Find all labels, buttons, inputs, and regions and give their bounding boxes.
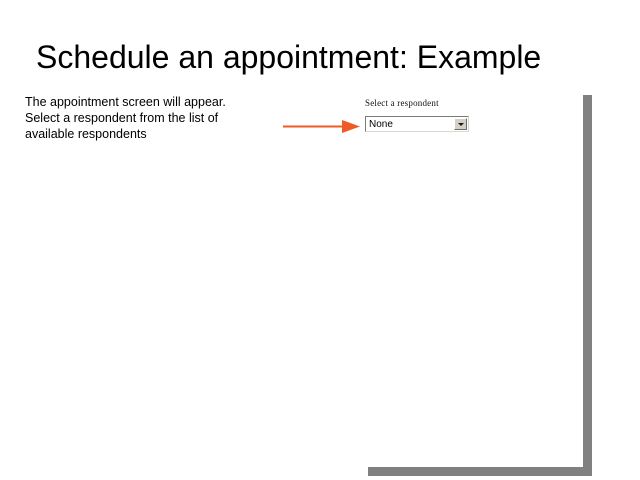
- respondent-select-value: None: [369, 118, 393, 131]
- callout-arrow-icon: [282, 118, 368, 136]
- page-title: Schedule an appointment: Example: [36, 38, 616, 76]
- slide-canvas: Schedule an appointment: Example The app…: [0, 0, 640, 480]
- respondent-field-label: Select a respondent: [365, 98, 471, 109]
- respondent-select[interactable]: None: [365, 116, 469, 132]
- respondent-select-button[interactable]: [454, 118, 467, 130]
- slide-body-text: The appointment screen will appear. Sele…: [25, 94, 257, 142]
- chevron-down-icon: [458, 123, 464, 126]
- screenshot-shadow-right: [583, 95, 592, 476]
- respondent-field-group: Select a respondent None: [365, 98, 471, 132]
- screenshot-shadow-bottom: [368, 467, 592, 476]
